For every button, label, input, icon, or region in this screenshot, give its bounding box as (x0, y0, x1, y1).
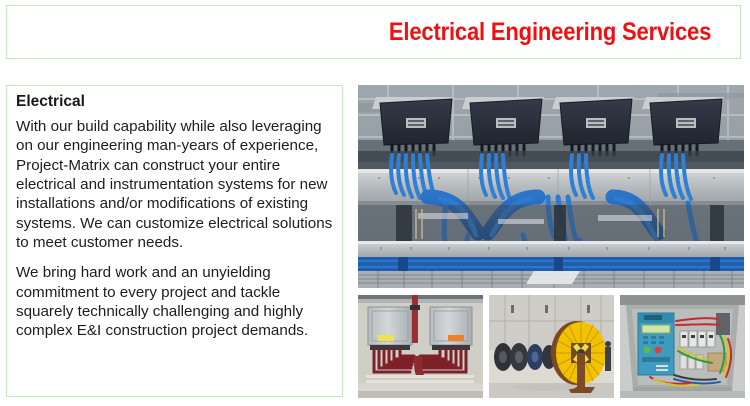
vfd-control-panel-graphic (620, 295, 745, 398)
control-cabinet-conduit-photo (358, 295, 483, 398)
body-paragraph-1: With our build capability while also lev… (16, 117, 334, 252)
control-cabinet-conduit-graphic (358, 295, 483, 398)
cable-tray-installation-graphic (358, 85, 744, 288)
electrical-text-panel: Electrical With our build capability whi… (6, 85, 343, 397)
cable-drum-photo (489, 295, 614, 398)
cable-drum-graphic (489, 295, 614, 398)
section-heading: Electrical (16, 92, 334, 112)
page-root: Electrical Engineering Services Electric… (0, 0, 750, 406)
cable-tray-installation-photo (358, 85, 744, 288)
header-banner: Electrical Engineering Services (6, 5, 741, 59)
body-paragraph-2: We bring hard work and an unyielding com… (16, 263, 334, 340)
vfd-control-panel-photo (620, 295, 745, 398)
page-title: Electrical Engineering Services (389, 18, 740, 47)
